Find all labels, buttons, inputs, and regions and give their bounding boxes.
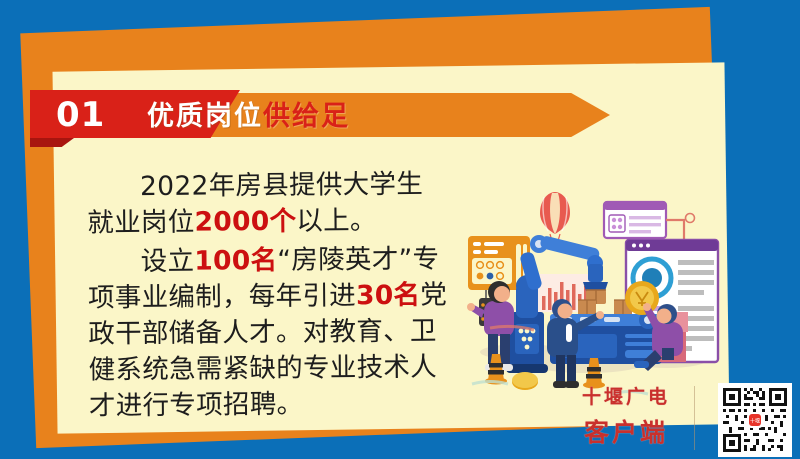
brand-divider	[694, 386, 695, 450]
illustration-industrial-automation	[462, 172, 720, 404]
body-copy: 2022年房县提供大学生就业岗位2000个以上。 设立100名“房陵英才”专项事…	[87, 166, 449, 424]
deco-circle	[686, 214, 695, 223]
gold-coin-small	[512, 372, 538, 390]
paragraph-1: 2022年房县提供大学生就业岗位2000个以上。	[87, 166, 448, 241]
gold-coin	[625, 281, 659, 315]
section-banner: 01 优质岗位供给足	[30, 90, 620, 140]
section-number: 01	[56, 92, 105, 138]
infographic-canvas: 01 优质岗位供给足 2022年房县提供大学生就业岗位2000个以上。 设立10…	[0, 0, 800, 459]
qr-code[interactable]: 十堰	[718, 383, 792, 457]
svg-text:十堰: 十堰	[750, 418, 760, 425]
p2-highlight-100: 100名	[194, 245, 277, 277]
section-title: 优质岗位供给足	[147, 94, 350, 138]
p2-part1: 设立	[141, 246, 195, 277]
section-title-white: 优质岗位	[147, 101, 263, 131]
p1-part2: 以上。	[296, 205, 377, 237]
brand-name: 十堰广电	[566, 382, 686, 409]
brand-watermark: 十堰广电 客户端	[566, 382, 686, 449]
paragraph-2: 设立100名“房陵英才”专项事业编制，每年引进30名党政干部储备人才。对教育、卫…	[88, 241, 450, 424]
p1-highlight-2000: 2000个	[194, 206, 296, 238]
p2-highlight-30: 30名	[356, 280, 421, 312]
brand-app-label: 客户端	[566, 413, 686, 449]
section-title-red: 供给足	[263, 101, 350, 131]
card-widget	[604, 202, 666, 238]
